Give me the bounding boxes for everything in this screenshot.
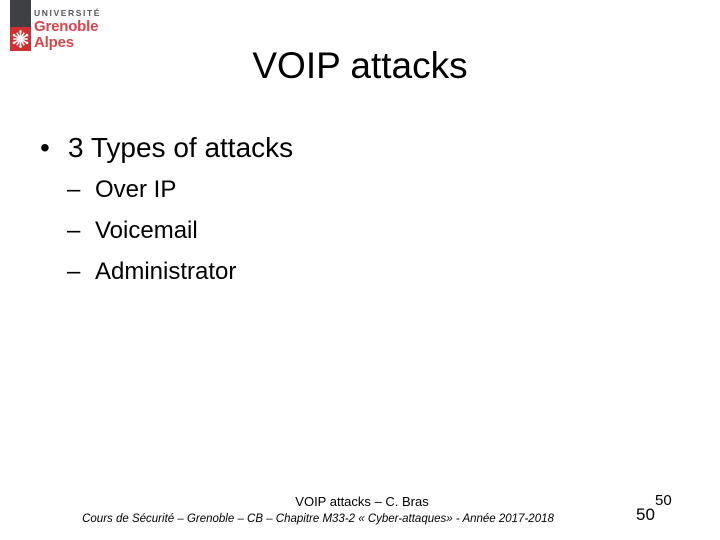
- slide-canvas: UNIVERSITÉ Grenoble Alpes VOIP attacks •…: [0, 0, 720, 540]
- bullet-label: 3 Types of attacks: [68, 132, 293, 163]
- bullet-marker-dot: •: [40, 129, 50, 167]
- logo-color-bars: [10, 0, 31, 51]
- subbullet-item-administrator: – Administrator: [36, 251, 676, 292]
- slide-title: VOIP attacks: [60, 44, 660, 88]
- slide-body: • 3 Types of attacks – Over IP – Voicema…: [36, 129, 676, 292]
- subbullet-label: Voicemail: [95, 217, 198, 244]
- logo-line-grenoble: Grenoble: [34, 19, 194, 35]
- page-number-top: 50: [655, 492, 672, 510]
- footer-title-author: VOIP attacks – C. Bras: [0, 493, 720, 510]
- subbullet-label: Administrator: [95, 258, 236, 285]
- subbullet-item-over-ip: – Over IP: [36, 169, 676, 210]
- subbullet-label: Over IP: [95, 176, 176, 203]
- subbullet-marker-dash: –: [67, 169, 80, 210]
- subbullet-marker-dash: –: [67, 251, 80, 292]
- subbullet-item-voicemail: – Voicemail: [36, 210, 676, 251]
- subbullet-marker-dash: –: [67, 210, 80, 251]
- subbullet-list: – Over IP – Voicemail – Administrator: [36, 169, 676, 292]
- bullet-item-level1: • 3 Types of attacks: [36, 129, 676, 167]
- footer-course-reference: Cours de Sécurité – Grenoble – CB – Chap…: [0, 511, 636, 527]
- page-number-bottom: 50: [636, 505, 655, 525]
- logo-gray-bar: [10, 0, 31, 27]
- snowflake-emblem-icon: [10, 27, 31, 51]
